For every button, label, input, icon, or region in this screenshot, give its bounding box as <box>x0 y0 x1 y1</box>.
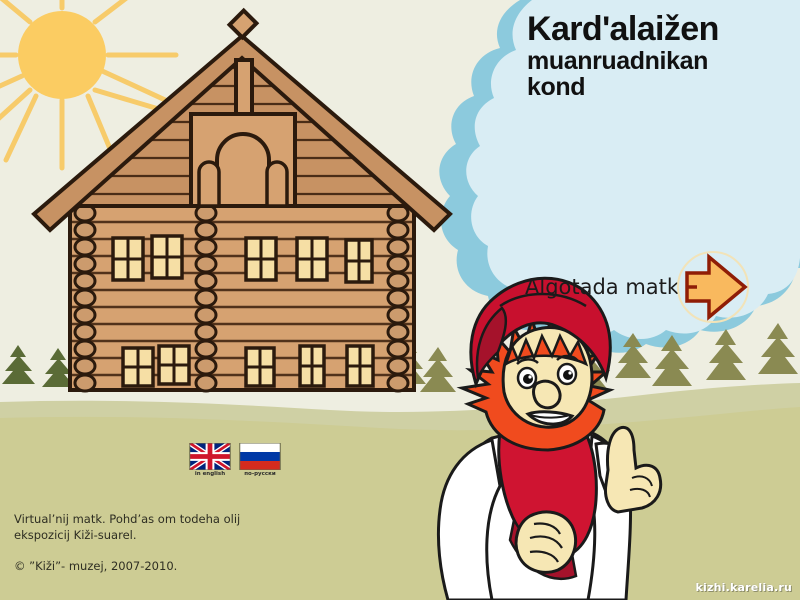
site-watermark: kizhi.karelia.ru <box>696 581 793 594</box>
russia-flag-icon[interactable] <box>239 443 281 470</box>
start-tour-button[interactable]: Algotada matk <box>525 268 751 306</box>
arrow-right-icon[interactable] <box>675 249 751 325</box>
title-line-1: Kard'alaižen <box>527 12 795 46</box>
language-button-en[interactable]: in english <box>188 443 232 477</box>
language-label-en: in english <box>188 471 232 477</box>
slide-title: Kard'alaižen muanruadnikan kond <box>527 12 795 100</box>
language-switcher: in english по-русски <box>188 443 282 477</box>
title-line-2: muanruadnikan <box>527 49 795 74</box>
footer-line-1: Virtual’nij matk. Pohd’as om todeha olij <box>14 512 344 528</box>
footer-text: Virtual’nij matk. Pohd’as om todeha olij… <box>14 512 344 573</box>
language-label-ru: по-русски <box>238 471 282 477</box>
copyright-line: © ”Kiži”- muzej, 2007-2010. <box>14 559 344 573</box>
title-line-3: kond <box>527 75 795 100</box>
uk-flag-icon[interactable] <box>189 443 231 470</box>
slide-canvas: Kard'alaižen muanruadnikan kond Algotada… <box>0 0 800 600</box>
language-button-ru[interactable]: по-русски <box>238 443 282 477</box>
start-tour-label: Algotada matk <box>525 275 679 299</box>
footer-line-2: ekspozicij Kiži-suarel. <box>14 528 344 544</box>
